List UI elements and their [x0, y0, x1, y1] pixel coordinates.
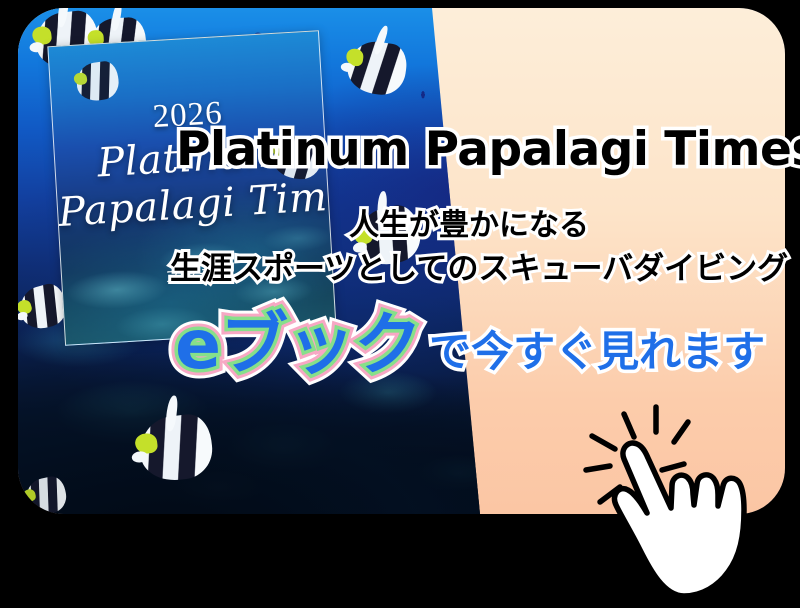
pointing-hand-click-icon[interactable]	[578, 404, 778, 600]
cursor-svg	[578, 404, 778, 600]
bannerfish-icon	[23, 474, 70, 514]
magazine-cover-script-title: Platinum Papalagi Times	[54, 127, 329, 237]
magazine-cover-thumbnail[interactable]: 2026 Platinum Papalagi Times プラチナ	[47, 30, 336, 346]
bannerfish-icon	[136, 412, 215, 484]
bannerfish-icon	[345, 38, 410, 98]
bannerfish-icon	[74, 60, 121, 104]
banner-stage: 2026 Platinum Papalagi Times プラチナ Platin…	[0, 0, 800, 608]
